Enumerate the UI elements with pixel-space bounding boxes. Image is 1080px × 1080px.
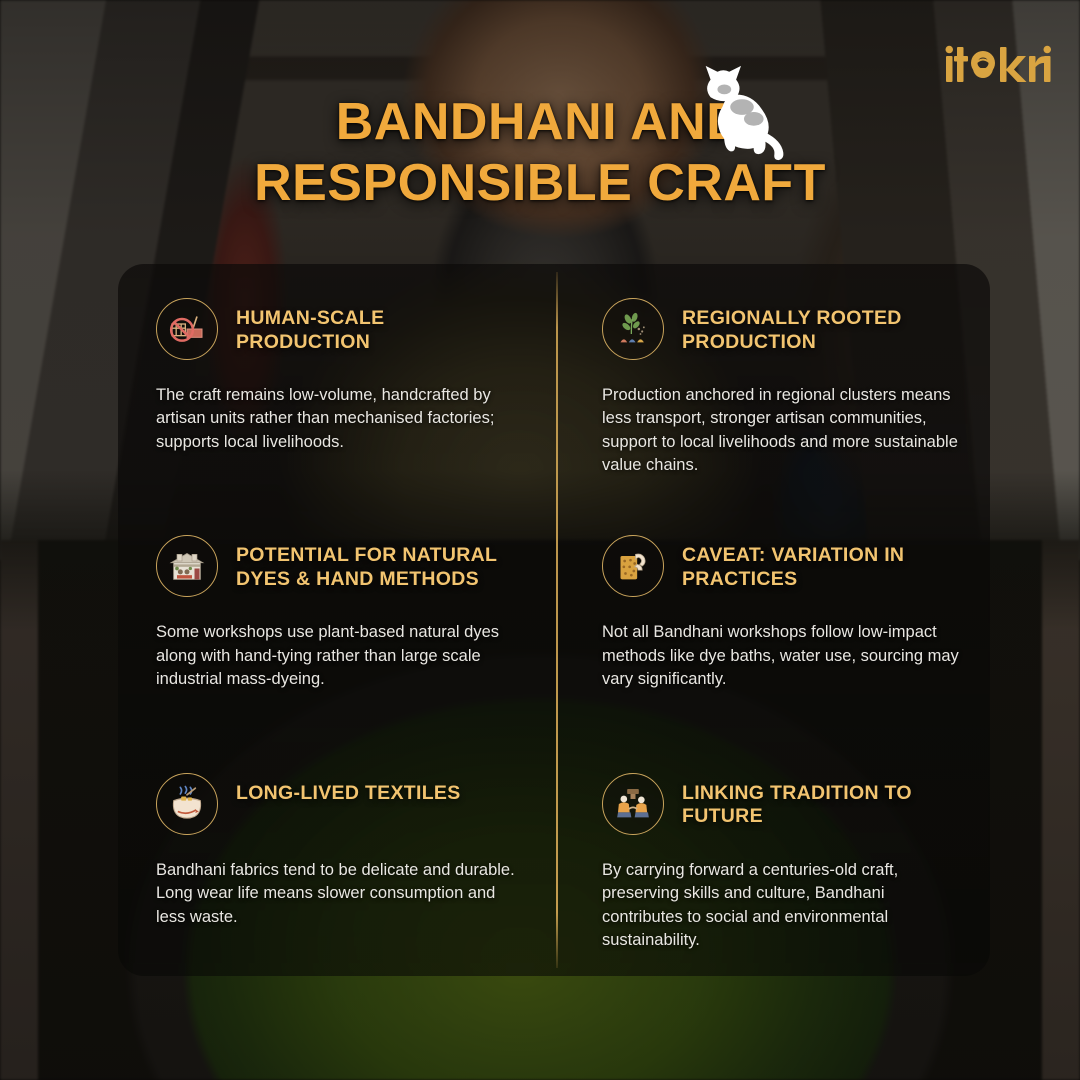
card-caveat-variation-in-practices: CAVEAT: VARIATION IN PRACTICES Not all B… — [554, 501, 990, 738]
card-header: CAVEAT: VARIATION IN PRACTICES — [602, 535, 968, 597]
card-header: HUMAN-SCALE PRODUCTION — [156, 298, 518, 360]
card-linking-tradition-to-future: LINKING TRADITION TO FUTURE By carrying … — [554, 739, 990, 976]
card-header: LINKING TRADITION TO FUTURE — [602, 773, 968, 835]
itokri-logo[interactable] — [944, 40, 1052, 86]
card-body: By carrying forward a centuries-old craf… — [602, 859, 968, 953]
card-long-lived-textiles: LONG-LIVED TEXTILES Bandhani fabrics ten… — [118, 739, 554, 976]
card-body: Not all Bandhani workshops follow low-im… — [602, 621, 968, 691]
card-title: CAVEAT: VARIATION IN PRACTICES — [682, 535, 968, 592]
card-header: REGIONALLY ROOTED PRODUCTION — [602, 298, 968, 360]
poster-title-line-2: RESPONSIBLE CRAFT — [0, 153, 1080, 214]
artisan-workshop-building-icon — [156, 535, 218, 597]
two-artisans-weaving-icon — [602, 773, 664, 835]
card-body: Production anchored in regional clusters… — [602, 384, 968, 478]
cards-grid: HUMAN-SCALE PRODUCTION The craft remains… — [118, 264, 990, 976]
card-title: REGIONALLY ROOTED PRODUCTION — [682, 298, 968, 355]
card-title: HUMAN-SCALE PRODUCTION — [236, 298, 518, 355]
card-body: Bandhani fabrics tend to be delicate and… — [156, 859, 518, 929]
poster-title-block: BANDHANI AND RESPONSIBLE CRAFT — [0, 92, 1080, 215]
card-natural-dyes-hand-methods: POTENTIAL FOR NATURAL DYES & HAND METHOD… — [118, 501, 554, 738]
card-title: POTENTIAL FOR NATURAL DYES & HAND METHOD… — [236, 535, 518, 592]
hand-holding-patterned-fabric-icon — [602, 535, 664, 597]
card-body: Some workshops use plant-based natural d… — [156, 621, 518, 691]
infographic-poster: BANDHANI AND RESPONSIBLE CRAFT — [0, 0, 1080, 1080]
steaming-dye-pot-icon — [156, 773, 218, 835]
card-body: The craft remains low-volume, handcrafte… — [156, 384, 518, 454]
poster-title-line-1: BANDHANI AND — [0, 92, 1080, 153]
card-header: POTENTIAL FOR NATURAL DYES & HAND METHOD… — [156, 535, 518, 597]
card-regionally-rooted-production: REGIONALLY ROOTED PRODUCTION Production … — [554, 264, 990, 501]
card-header: LONG-LIVED TEXTILES — [156, 773, 518, 835]
plant-seedling-dyes-icon — [602, 298, 664, 360]
card-title: LINKING TRADITION TO FUTURE — [682, 773, 968, 830]
card-title: LONG-LIVED TEXTILES — [236, 773, 461, 806]
content-panel: HUMAN-SCALE PRODUCTION The craft remains… — [118, 264, 990, 976]
no-factory-machine-icon — [156, 298, 218, 360]
card-human-scale-production: HUMAN-SCALE PRODUCTION The craft remains… — [118, 264, 554, 501]
